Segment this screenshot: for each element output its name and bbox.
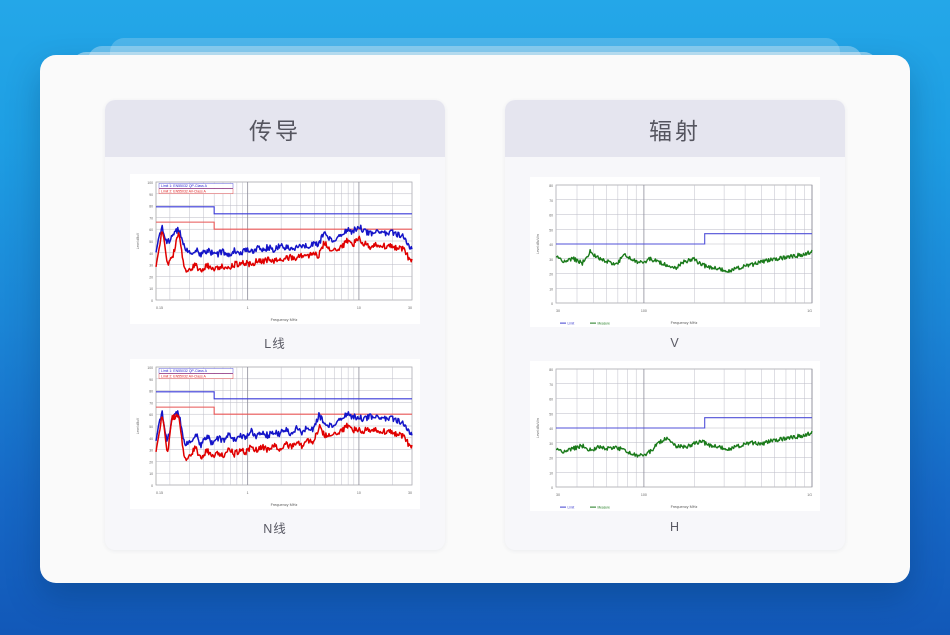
- card-header-radiated: 辐射: [505, 100, 845, 157]
- svg-text:Limit 1: EN55032 QP-Class A: Limit 1: EN55032 QP-Class A: [161, 369, 208, 373]
- svg-text:Limit: Limit: [568, 506, 575, 510]
- svg-text:Limit 1: EN55032 QP-Class A: Limit 1: EN55032 QP-Class A: [161, 184, 208, 188]
- svg-text:Frequency MHz: Frequency MHz: [671, 505, 698, 509]
- card-body-conducted: 01020304050607080901000.1511030Frequency…: [105, 157, 445, 550]
- svg-text:30: 30: [556, 309, 560, 313]
- svg-text:10: 10: [357, 306, 361, 310]
- svg-text:40: 40: [549, 427, 553, 431]
- svg-text:30: 30: [549, 258, 553, 262]
- plot-caption: H: [670, 520, 680, 534]
- svg-text:Level dBuV: Level dBuV: [136, 417, 140, 434]
- svg-text:0: 0: [151, 299, 153, 303]
- svg-text:70: 70: [549, 199, 553, 203]
- svg-text:40: 40: [149, 437, 153, 441]
- svg-text:1G: 1G: [807, 309, 812, 313]
- svg-text:Measure: Measure: [598, 321, 611, 325]
- svg-text:60: 60: [549, 398, 553, 402]
- svg-text:80: 80: [149, 205, 153, 209]
- svg-text:30: 30: [408, 306, 412, 310]
- svg-text:20: 20: [549, 272, 553, 276]
- svg-text:10: 10: [149, 472, 153, 476]
- svg-text:1: 1: [247, 306, 249, 310]
- svg-text:Limit 2: EN55032 AV-Class A: Limit 2: EN55032 AV-Class A: [161, 374, 207, 378]
- chart-radiated-H: 01020304050607080301001GFrequency MHzLev…: [530, 361, 820, 511]
- plot-caption: V: [670, 336, 679, 350]
- report-card-radiated: 辐射01020304050607080301001GFrequency MHzL…: [505, 100, 845, 550]
- card-title: 传导: [249, 112, 301, 146]
- svg-text:Level dBuV/m: Level dBuV/m: [536, 418, 540, 438]
- svg-text:20: 20: [149, 276, 153, 280]
- svg-text:10: 10: [357, 491, 361, 495]
- svg-text:100: 100: [147, 366, 153, 370]
- svg-text:30: 30: [408, 491, 412, 495]
- svg-text:100: 100: [147, 181, 153, 185]
- report-grid: 传导01020304050607080901000.1511030Frequen…: [105, 100, 845, 550]
- svg-text:30: 30: [549, 442, 553, 446]
- card-header-conducted: 传导: [105, 100, 445, 157]
- svg-text:100: 100: [641, 309, 647, 313]
- svg-text:40: 40: [149, 252, 153, 256]
- svg-text:Limit 2: EN55032 AV-Class A: Limit 2: EN55032 AV-Class A: [161, 190, 207, 194]
- svg-text:Limit: Limit: [568, 321, 575, 325]
- svg-text:0: 0: [151, 484, 153, 488]
- svg-text:Frequency MHz: Frequency MHz: [271, 318, 298, 322]
- card-body-radiated: 01020304050607080301001GFrequency MHzLev…: [505, 157, 845, 550]
- svg-text:Level dBuV: Level dBuV: [136, 232, 140, 249]
- card-title: 辐射: [649, 112, 701, 146]
- svg-text:Measure: Measure: [598, 506, 611, 510]
- svg-text:60: 60: [149, 413, 153, 417]
- svg-text:1G: 1G: [807, 493, 812, 497]
- svg-text:0: 0: [551, 302, 553, 306]
- svg-text:90: 90: [149, 378, 153, 382]
- svg-text:30: 30: [556, 493, 560, 497]
- svg-text:10: 10: [549, 472, 553, 476]
- svg-text:30: 30: [149, 448, 153, 452]
- svg-text:60: 60: [149, 228, 153, 232]
- svg-text:Frequency MHz: Frequency MHz: [271, 503, 298, 507]
- main-panel: 传导01020304050607080901000.1511030Frequen…: [40, 55, 910, 583]
- plot-block-conducted-1[interactable]: 01020304050607080901000.1511030Frequency…: [117, 359, 433, 537]
- svg-text:70: 70: [149, 217, 153, 221]
- chart-conducted-L: 01020304050607080901000.1511030Frequency…: [130, 174, 420, 324]
- svg-text:0.15: 0.15: [156, 306, 163, 310]
- svg-text:80: 80: [549, 184, 553, 188]
- svg-text:10: 10: [149, 287, 153, 291]
- plot-caption: N线: [263, 518, 287, 537]
- svg-text:60: 60: [549, 213, 553, 217]
- svg-text:50: 50: [549, 228, 553, 232]
- svg-text:90: 90: [149, 193, 153, 197]
- plot-caption: L线: [264, 333, 285, 352]
- svg-text:Frequency MHz: Frequency MHz: [671, 321, 698, 325]
- svg-text:80: 80: [549, 368, 553, 372]
- svg-text:0.15: 0.15: [156, 491, 163, 495]
- svg-text:50: 50: [549, 413, 553, 417]
- svg-text:30: 30: [149, 264, 153, 268]
- svg-text:20: 20: [149, 460, 153, 464]
- svg-text:20: 20: [549, 457, 553, 461]
- svg-text:70: 70: [149, 401, 153, 405]
- report-card-conducted: 传导01020304050607080901000.1511030Frequen…: [105, 100, 445, 550]
- svg-text:100: 100: [641, 493, 647, 497]
- plot-block-radiated-0[interactable]: 01020304050607080301001GFrequency MHzLev…: [517, 177, 833, 350]
- svg-text:0: 0: [551, 486, 553, 490]
- svg-text:40: 40: [549, 243, 553, 247]
- svg-text:80: 80: [149, 389, 153, 393]
- chart-conducted-N: 01020304050607080901000.1511030Frequency…: [130, 359, 420, 509]
- svg-text:10: 10: [549, 287, 553, 291]
- svg-text:Level dBuV/m: Level dBuV/m: [536, 233, 540, 253]
- svg-text:50: 50: [149, 240, 153, 244]
- svg-text:50: 50: [149, 425, 153, 429]
- svg-text:70: 70: [549, 383, 553, 387]
- chart-radiated-V: 01020304050607080301001GFrequency MHzLev…: [530, 177, 820, 327]
- svg-text:1: 1: [247, 491, 249, 495]
- plot-block-radiated-1[interactable]: 01020304050607080301001GFrequency MHzLev…: [517, 361, 833, 534]
- plot-block-conducted-0[interactable]: 01020304050607080901000.1511030Frequency…: [117, 174, 433, 352]
